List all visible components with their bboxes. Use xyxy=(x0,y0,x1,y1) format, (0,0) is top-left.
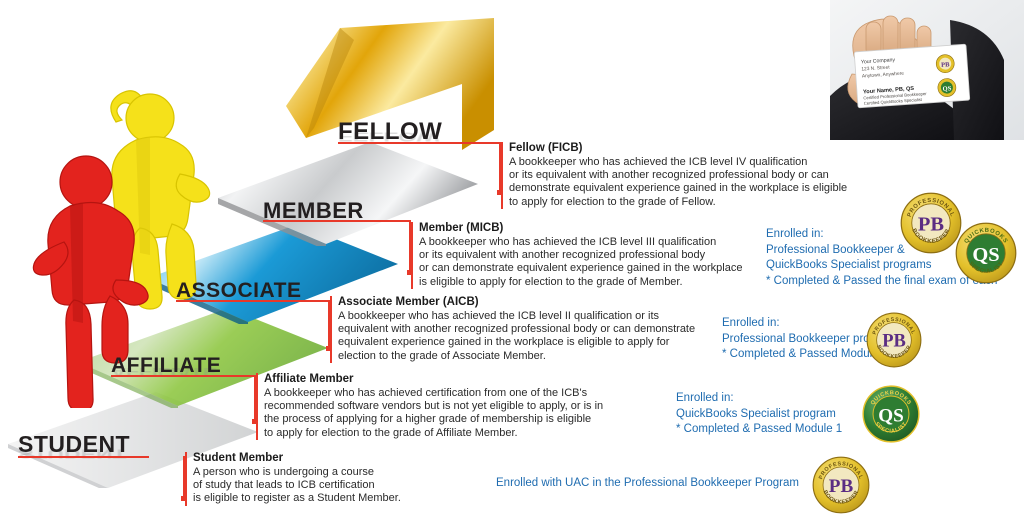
svg-text:PB: PB xyxy=(918,213,944,235)
desc-line: or its equivalent with another recognize… xyxy=(419,249,764,262)
svg-text:QS: QS xyxy=(942,85,952,93)
stair-step-fellow xyxy=(286,18,522,170)
desc-line: election to the grade of Associate Membe… xyxy=(338,350,708,363)
professional-bookkeeper-seal: PB PROFESSIONAL BOOKKEEPER xyxy=(900,192,962,259)
description-title-student: Student Member xyxy=(193,452,493,465)
step-underline-affiliate xyxy=(111,375,255,377)
step-underline-student xyxy=(18,456,149,458)
svg-text:PB: PB xyxy=(941,61,950,69)
svg-text:PB: PB xyxy=(882,331,906,351)
svg-text:QS: QS xyxy=(878,406,904,427)
step-label-student: STUDENT xyxy=(18,431,130,458)
description-member: Member (MICB) A bookkeeper who has achie… xyxy=(411,222,764,289)
description-body-fellow: A bookkeeper who has achieved the ICB le… xyxy=(509,156,859,209)
business-card-photo: Your Company 123 N. Street Anytown, Anyw… xyxy=(830,0,1024,140)
description-associate: Associate Member (AICB) A bookkeeper who… xyxy=(330,296,708,363)
description-title-associate: Associate Member (AICB) xyxy=(338,296,708,309)
enrollment-line: Enrolled with UAC in the Professional Bo… xyxy=(496,476,799,492)
desc-line: to apply for election to the grade of Af… xyxy=(264,427,634,440)
step-underline-fellow xyxy=(338,142,501,144)
desc-line: to apply for election to the grade of Fe… xyxy=(509,196,859,209)
description-body-member: A bookkeeper who has achieved the ICB le… xyxy=(419,236,764,289)
step-underline-member xyxy=(263,220,410,222)
description-student: Student Member A person who is undergoin… xyxy=(185,452,493,506)
infographic-canvas: STUDENT AFFILIATE ASSOCIATE MEMBER FELLO… xyxy=(0,0,1024,532)
professional-bookkeeper-seal: PB PROFESSIONAL BOOKKEEPER xyxy=(866,312,922,373)
description-body-affiliate: A bookkeeper who has achieved certificat… xyxy=(264,387,634,440)
enrollment-line: Enrolled in: xyxy=(676,391,842,407)
description-title-member: Member (MICB) xyxy=(419,222,764,235)
desc-line: demonstrate equivalent experience gained… xyxy=(509,182,859,195)
desc-line: A bookkeeper who has achieved the ICB le… xyxy=(509,156,859,169)
enrollment-line: * Completed & Passed Module 1 xyxy=(676,422,842,438)
professional-bookkeeper-seal: PB PROFESSIONAL BOOKKEEPER xyxy=(812,456,870,519)
desc-line: A bookkeeper who has achieved the ICB le… xyxy=(338,310,708,323)
description-body-student: A person who is undergoing a course of s… xyxy=(193,466,493,506)
description-affiliate: Affiliate Member A bookkeeper who has ac… xyxy=(256,373,634,440)
description-title-fellow: Fellow (FICB) xyxy=(509,142,859,155)
desc-line: the process of applying for a higher gra… xyxy=(264,413,634,426)
desc-line: recommended software vendors but is not … xyxy=(264,400,634,413)
desc-line: of study that leads to ICB certification xyxy=(193,479,493,492)
desc-line: or its equivalent with another recognize… xyxy=(509,169,859,182)
desc-line: equivalent with another recognized profe… xyxy=(338,323,708,336)
desc-line: is eligible to apply for election to the… xyxy=(419,276,764,289)
enrollment-note-affiliate: Enrolled in: QuickBooks Specialist progr… xyxy=(676,391,842,438)
svg-text:QS: QS xyxy=(972,244,999,266)
quickbooks-specialist-seal: QS QUICKBOOKS SPECIALIST xyxy=(955,222,1017,289)
description-body-associate: A bookkeeper who has achieved the ICB le… xyxy=(338,310,708,363)
desc-line: equivalent experience gained in the work… xyxy=(338,336,708,349)
enrollment-line: QuickBooks Specialist program xyxy=(676,407,842,423)
quickbooks-specialist-seal: QS QUICKBOOKS SPECIALIST xyxy=(862,385,920,448)
desc-line: is eligible to register as a Student Mem… xyxy=(193,492,493,505)
desc-line: A bookkeeper who has achieved the ICB le… xyxy=(419,236,764,249)
desc-line: or can demonstrate equivalent experience… xyxy=(419,262,764,275)
enrollment-note-student: Enrolled with UAC in the Professional Bo… xyxy=(496,476,799,492)
desc-line: A bookkeeper who has achieved certificat… xyxy=(264,387,634,400)
svg-text:PB: PB xyxy=(829,476,854,497)
step-slab-fellow xyxy=(286,18,522,170)
description-fellow: Fellow (FICB) A bookkeeper who has achie… xyxy=(501,142,859,209)
step-underline-associate xyxy=(176,300,329,302)
description-title-affiliate: Affiliate Member xyxy=(264,373,634,386)
desc-line: A person who is undergoing a course xyxy=(193,466,493,479)
